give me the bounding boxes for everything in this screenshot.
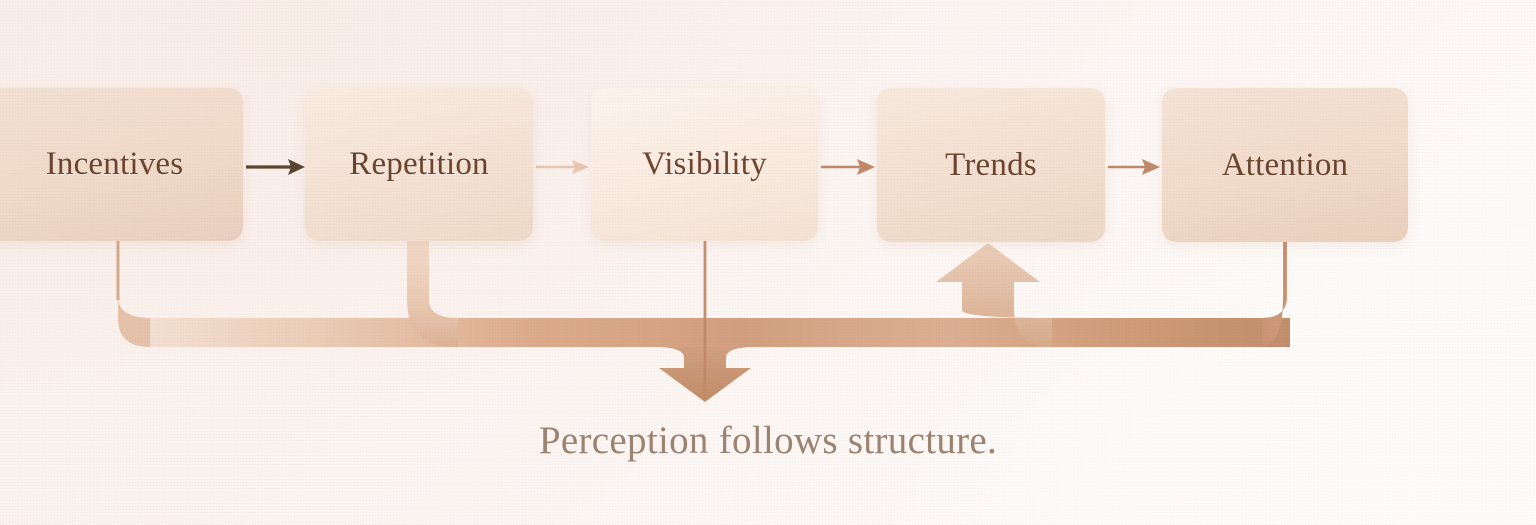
node-label-attention: Attention — [1222, 147, 1348, 184]
node-attention[interactable]: Attention — [1162, 88, 1408, 242]
forward-arrow-incentives-repetition — [246, 159, 305, 175]
node-trends[interactable]: Trends — [877, 88, 1105, 242]
forward-arrow-repetition-visibility — [536, 160, 589, 174]
forward-arrow-trends-attention — [1108, 159, 1160, 175]
connector-visibility-thinline — [704, 236, 707, 398]
node-repetition[interactable]: Repetition — [305, 88, 533, 241]
node-visibility[interactable]: Visibility — [591, 88, 818, 241]
node-label-incentives: Incentives — [46, 146, 184, 183]
feedback-band-group — [117, 236, 1291, 402]
node-incentives[interactable]: Incentives — [0, 88, 243, 241]
node-label-trends: Trends — [945, 147, 1037, 184]
node-label-repetition: Repetition — [349, 146, 488, 183]
connector-incentives-curve — [118, 236, 150, 347]
connector-incentives-stem — [117, 236, 120, 300]
feedback-band — [150, 318, 1290, 347]
diagram-caption: Perception follows structure. — [0, 418, 1536, 463]
diagram-canvas: Incentives Repetition Visibility Trends … — [0, 0, 1536, 525]
node-label-visibility: Visibility — [642, 146, 767, 183]
forward-arrow-visibility-trends — [821, 159, 875, 175]
